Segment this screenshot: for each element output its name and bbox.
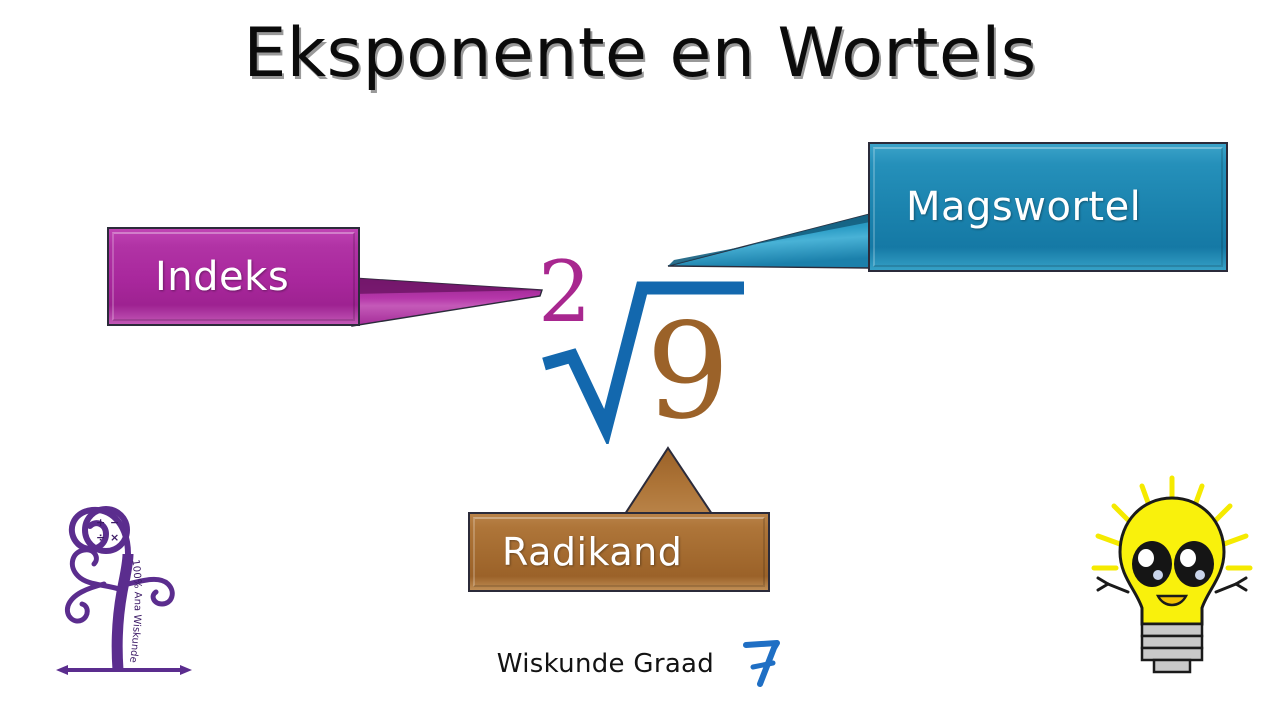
page-title: Eksponente en Wortels — [0, 14, 1280, 93]
logo-symbol-divide: ÷ — [96, 531, 105, 544]
callout-magswortel[interactable]: Magswortel — [868, 142, 1228, 272]
caption-grade-number — [741, 636, 783, 692]
callout-radikand[interactable]: Radikand — [468, 512, 770, 592]
caption-text: Wiskunde Graad — [497, 649, 714, 679]
logo-symbol-plus: + — [96, 516, 105, 529]
bulb-eye-left — [1132, 541, 1172, 587]
callout-indeks[interactable]: Indeks — [107, 227, 360, 326]
logo-symbol-times: × — [110, 531, 119, 544]
math-radicand-9: 9 — [646, 306, 730, 438]
callout-magswortel-label: Magswortel — [906, 184, 1141, 230]
lightbulb-mascot — [1084, 472, 1260, 680]
arrow-head-right — [180, 665, 192, 675]
callout-indeks-label: Indeks — [155, 254, 289, 300]
radikand-callout-tail — [620, 446, 720, 518]
bulb-base — [1142, 624, 1202, 672]
handdrawn-seven-icon — [741, 636, 783, 688]
callout-radikand-label: Radikand — [502, 530, 682, 574]
arrow-head-left — [56, 665, 68, 675]
bulb-eye-right — [1174, 541, 1214, 587]
ana-wiskunde-tree-logo: + − ÷ × 100% Ana Wiskunde — [44, 492, 204, 682]
logo-symbol-minus: − — [110, 516, 119, 529]
slide-canvas: Eksponente en Wortels — [0, 0, 1280, 720]
math-expression: 2 9 — [520, 250, 760, 450]
